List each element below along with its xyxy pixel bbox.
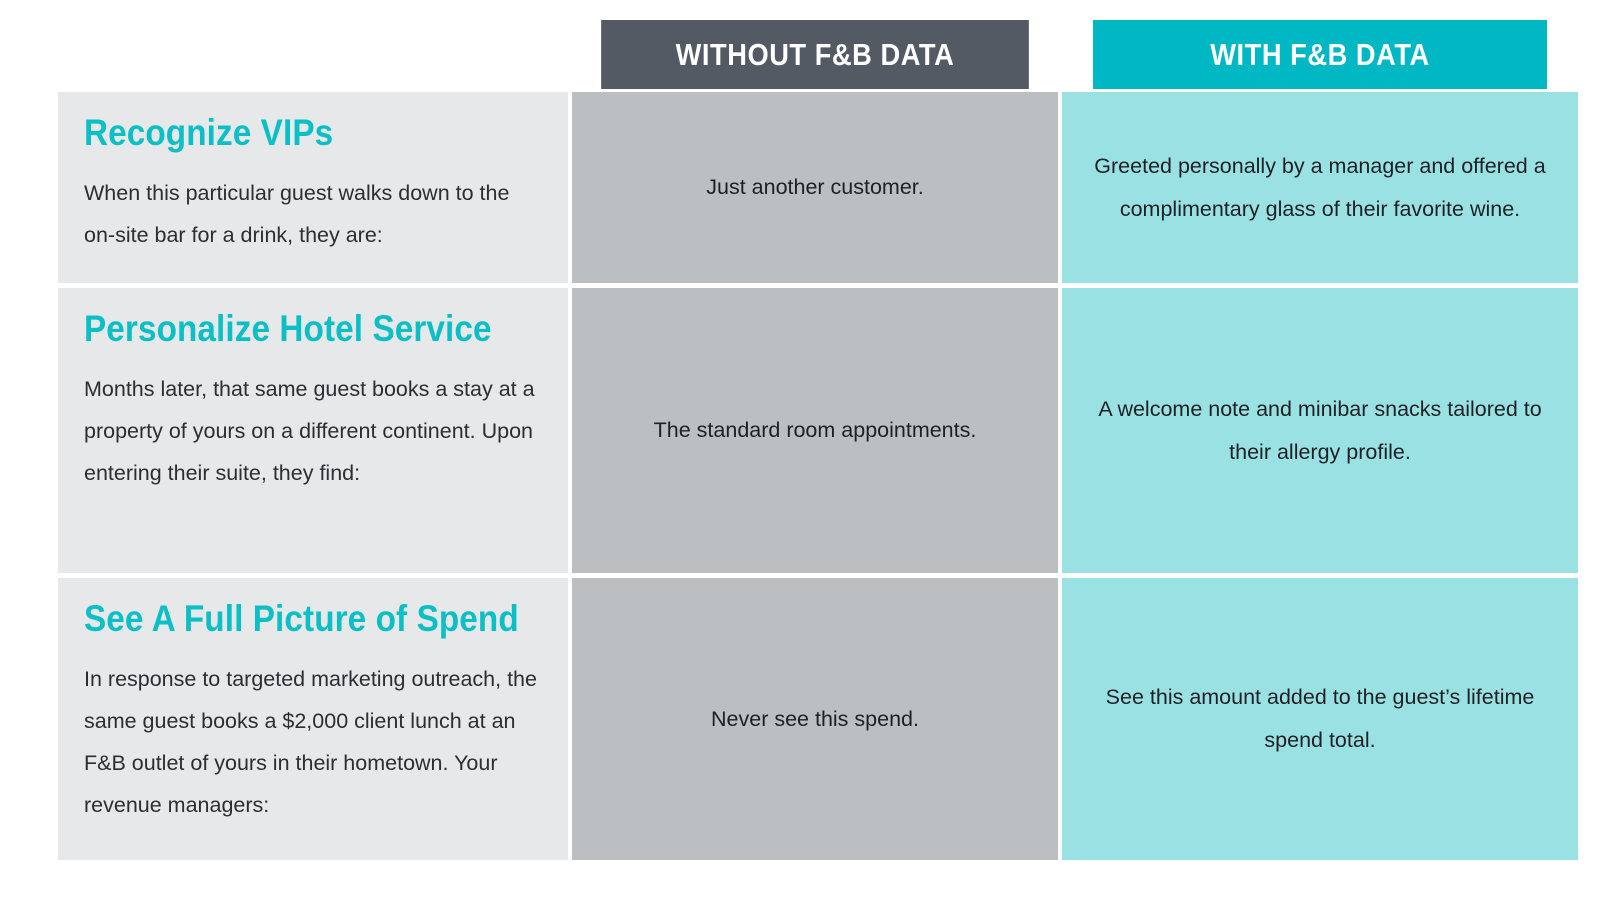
table-header-row: WITHOUT F&B DATA WITH F&B DATA [0,20,1600,89]
header-cell-scenario [89,20,538,89]
comparison-table: WITHOUT F&B DATA WITH F&B DATA Recognize… [0,0,1600,907]
scenario-title: Personalize Hotel Service [84,310,493,349]
scenario-cell: See A Full Picture of Spend In response … [58,578,568,860]
header-cell-with-fb-data: WITH F&B DATA [1093,20,1547,89]
with-fb-data-cell: See this amount added to the guest’s lif… [1062,578,1578,860]
without-fb-data-cell: Never see this spend. [572,578,1058,860]
header-cell-without-fb-data: WITHOUT F&B DATA [601,20,1029,89]
with-fb-data-text: Greeted personally by a manager and offe… [1092,145,1548,231]
with-fb-data-text: See this amount added to the guest’s lif… [1092,676,1548,762]
with-fb-data-cell: A welcome note and minibar snacks tailor… [1062,288,1578,573]
with-fb-data-text: A welcome note and minibar snacks tailor… [1092,388,1548,474]
scenario-cell: Personalize Hotel Service Months later, … [58,288,568,573]
header-label-without: WITHOUT F&B DATA [676,37,955,73]
scenario-body: Months later, that same guest books a st… [84,369,538,495]
without-fb-data-text: Just another customer. [706,166,924,209]
table-row: See A Full Picture of Spend In response … [0,578,1600,860]
with-fb-data-cell: Greeted personally by a manager and offe… [1062,92,1578,283]
without-fb-data-cell: The standard room appointments. [572,288,1058,573]
header-label-with: WITH F&B DATA [1210,37,1430,73]
scenario-title: See A Full Picture of Spend [84,600,493,639]
without-fb-data-text: The standard room appointments. [654,409,977,452]
table-row: Recognize VIPs When this particular gues… [0,92,1600,283]
scenario-body: In response to targeted marketing outrea… [84,659,538,827]
without-fb-data-text: Never see this spend. [711,698,919,741]
scenario-cell: Recognize VIPs When this particular gues… [58,92,568,283]
scenario-title: Recognize VIPs [84,114,493,153]
scenario-body: When this particular guest walks down to… [84,173,538,257]
without-fb-data-cell: Just another customer. [572,92,1058,283]
table-row: Personalize Hotel Service Months later, … [0,288,1600,573]
